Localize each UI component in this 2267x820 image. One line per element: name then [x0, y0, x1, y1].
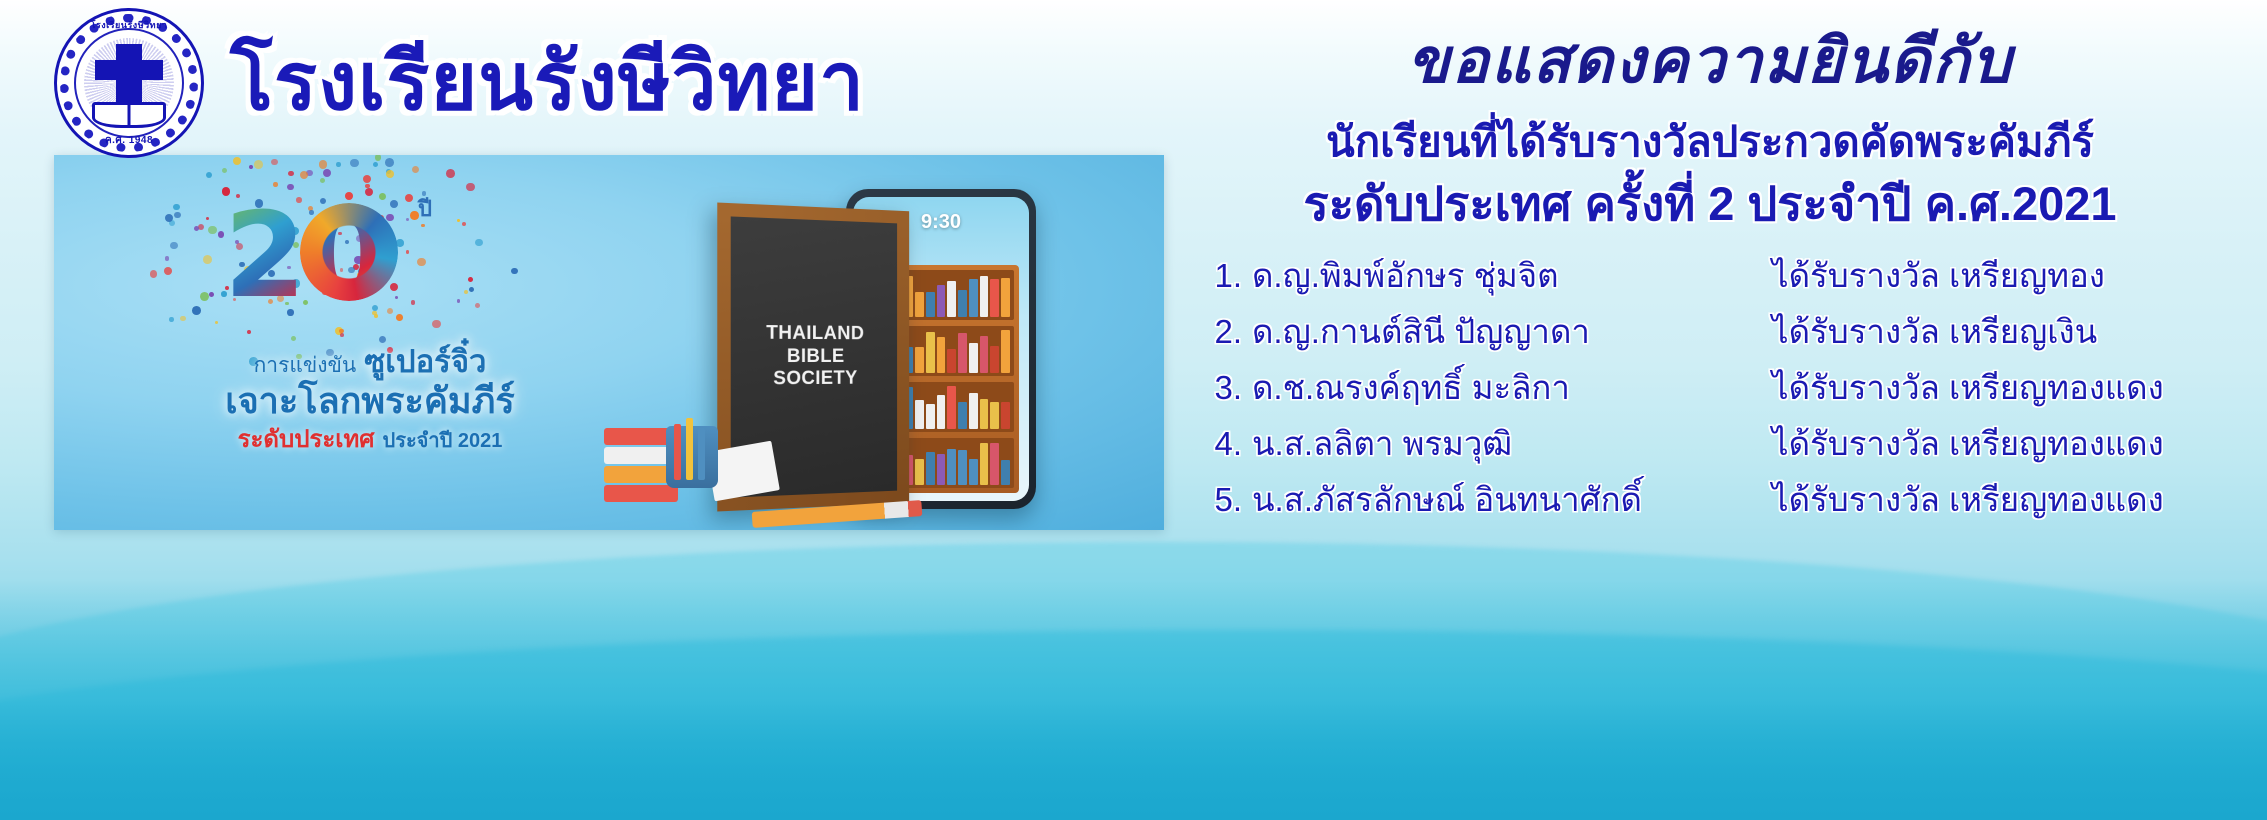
crest-founded-year: ค.ศ. 1948	[54, 133, 204, 148]
award-student-name: น.ส.ลลิตา พรมวุฒิ	[1252, 427, 1772, 460]
award-prize-label: ได้รับรางวัล เหรียญเงิน	[1772, 315, 2097, 348]
school-name-title: โรงเรียนรังษีวิทยา	[230, 43, 865, 123]
poster-title-line1: การแข่งขันซูเปอร์จิ๋ว	[90, 346, 650, 379]
confetti-dot	[475, 239, 482, 246]
confetti-dot	[319, 160, 327, 168]
confetti-dot	[206, 172, 212, 178]
confetti-dot	[385, 158, 394, 167]
shelf-book	[969, 279, 978, 317]
shelf-book	[990, 402, 999, 429]
announcement-subtitle-2: ระดับประเทศ ครั้งที่ 2 ประจำปี ค.ศ.2021	[1190, 175, 2230, 232]
confetti-dot	[396, 314, 403, 321]
poster-title-line2: เจาะโลกพระคัมภีร์	[90, 382, 650, 420]
shelf-book	[958, 333, 967, 373]
blackboard-line: BIBLE	[766, 346, 864, 369]
confetti-dot	[386, 170, 394, 178]
confetti-dot	[373, 162, 379, 168]
poster-left-side: 20 ปี การแข่งขันซูเปอร์จิ๋ว เจาะโลกพระคั…	[54, 155, 674, 530]
shelf-book	[937, 454, 946, 486]
confetti-dot	[247, 330, 251, 334]
confetti-dot	[271, 159, 278, 166]
shelf-book	[1001, 460, 1010, 485]
confetti-dot	[446, 169, 455, 178]
confetti-dot	[323, 169, 331, 177]
shelf-book	[980, 276, 989, 317]
confetti-dot	[203, 255, 212, 264]
award-row: 4.น.ส.ลลิตา พรมวุฒิได้รับรางวัล เหรียญทอ…	[1208, 427, 2230, 460]
shelf-book	[926, 452, 935, 485]
confetti-dot	[215, 321, 218, 324]
school-crest-icon: โรงเรียนรังษีวิทยา ค.ศ. 1948	[54, 8, 204, 158]
shelf-book	[937, 337, 946, 374]
poster-title-block: การแข่งขันซูเปอร์จิ๋ว เจาะโลกพระคัมภีร์ …	[90, 346, 650, 452]
shelf-book	[915, 292, 924, 317]
confetti-dot	[200, 292, 209, 301]
confetti-dot	[170, 242, 177, 249]
award-row: 2.ด.ญ.กานต์สินี ปัญญาดาได้รับรางวัล เหรี…	[1208, 315, 2230, 348]
confetti-dot	[412, 166, 419, 173]
confetti-dot	[173, 204, 180, 211]
award-index: 4.	[1208, 427, 1252, 460]
confetti-dot	[457, 219, 460, 222]
confetti-dot	[249, 165, 253, 169]
confetti-dot	[462, 222, 466, 226]
open-book-icon	[92, 102, 166, 128]
confetti-dot	[233, 157, 241, 165]
confetti-dot	[192, 306, 201, 315]
shelf-book	[915, 400, 924, 429]
award-prize-label: ได้รับรางวัล เหรียญทองแดง	[1772, 483, 2164, 516]
confetti-dot	[198, 224, 204, 230]
confetti-dot	[300, 171, 308, 179]
award-prize-label: ได้รับรางวัล เหรียญทองแดง	[1772, 427, 2164, 460]
poster-year-label: ประจำปี 2021	[383, 430, 503, 452]
confetti-dot	[320, 178, 325, 183]
award-index: 3.	[1208, 371, 1252, 404]
award-index: 5.	[1208, 483, 1252, 516]
shelf-book	[1001, 278, 1010, 317]
shelf-book	[947, 349, 956, 373]
award-index: 1.	[1208, 259, 1252, 292]
award-prize-label: ได้รับรางวัล เหรียญทองแดง	[1772, 371, 2164, 404]
shelf-book	[937, 285, 946, 317]
anniversary-ring-icon	[300, 203, 398, 301]
announcement-banner: โรงเรียนรังษีวิทยา ค.ศ. 1948 โรงเรียนรัง…	[0, 0, 2267, 820]
confetti-dot	[174, 212, 181, 219]
confetti-dot	[194, 226, 199, 231]
shelf-book	[1001, 330, 1010, 373]
anniversary-20-logo: 20 ปี	[214, 185, 424, 315]
confetti-dot	[379, 336, 386, 343]
announcement-panel: ขอแสดงความยินดีกับ นักเรียนที่ได้รับรางว…	[1190, 28, 2230, 539]
confetti-dot	[340, 333, 344, 337]
shelf-book	[947, 449, 956, 485]
shelf-book	[990, 279, 999, 317]
shelf-book	[915, 347, 924, 373]
shelf-book	[980, 443, 989, 485]
award-student-name: ด.ญ.พิมพ์อักษร ชุ่มจิต	[1252, 259, 1772, 292]
confetti-dot	[464, 290, 468, 294]
confetti-dot	[254, 160, 263, 169]
poster-level-label: ระดับประเทศ	[238, 426, 375, 453]
banner-header: โรงเรียนรังษีวิทยา ค.ศ. 1948 โรงเรียนรัง…	[54, 8, 865, 158]
confetti-dot	[180, 316, 185, 321]
confetti-dot	[164, 267, 172, 275]
shelf-book	[969, 393, 978, 429]
confetti-dot	[432, 320, 441, 329]
award-index: 2.	[1208, 315, 1252, 348]
shelf-book	[958, 402, 967, 429]
award-winner-list: 1.ด.ญ.พิมพ์อักษร ชุ่มจิตได้รับรางวัล เหร…	[1190, 259, 2230, 516]
shelf-book	[980, 336, 989, 373]
shelf-book	[915, 459, 924, 485]
shelf-book	[990, 346, 999, 373]
shelf-book	[926, 292, 935, 317]
confetti-dot	[511, 268, 518, 275]
congratulations-heading: ขอแสดงความยินดีกับ	[1190, 28, 2230, 96]
confetti-dot	[169, 317, 174, 322]
shelf-book	[980, 399, 989, 429]
shelf-book	[958, 450, 967, 485]
shelf-book	[947, 386, 956, 429]
confetti-dot	[469, 287, 474, 292]
confetti-dot	[457, 299, 460, 302]
blackboard-line: THAILAND	[766, 323, 864, 346]
shelf-book	[926, 404, 935, 429]
crest-top-text: โรงเรียนรังษีวิทยา	[54, 18, 204, 32]
confetti-dot	[350, 159, 358, 167]
shelf-book	[926, 332, 935, 373]
shelf-book	[958, 290, 967, 317]
award-row: 5.น.ส.ภัสรลักษณ์ อินทนาศักดิ์ได้รับรางวั…	[1208, 483, 2230, 516]
confetti-dot	[222, 168, 227, 173]
announcement-subtitle-1: นักเรียนที่ได้รับรางวัลประกวดคัดพระคัมภี…	[1190, 116, 2230, 167]
award-student-name: น.ส.ภัสรลักษณ์ อินทนาศักดิ์	[1252, 483, 1772, 516]
confetti-dot	[336, 162, 341, 167]
cross-icon	[116, 44, 142, 106]
blackboard-text: THAILAND BIBLE SOCIETY	[766, 323, 864, 391]
confetti-dot	[291, 336, 296, 341]
poster-title-line3: ระดับประเทศประจำปี 2021	[90, 427, 650, 452]
award-row: 3.ด.ช.ณรงค์ฤทธิ์ มะลิกาได้รับรางวัล เหรี…	[1208, 371, 2230, 404]
confetti-dot	[150, 270, 158, 278]
shelf-book	[937, 395, 946, 429]
shelf-book	[969, 459, 978, 485]
confetti-dot	[288, 171, 294, 177]
poster-right-side: 9:30 THAILAND BIBLE SOCIETY	[604, 155, 1164, 530]
award-student-name: ด.ช.ณรงค์ฤทธิ์ มะลิกา	[1252, 371, 1772, 404]
anniversary-unit: ปี	[418, 191, 432, 226]
award-student-name: ด.ญ.กานต์สินี ปัญญาดา	[1252, 315, 1772, 348]
competition-poster: 20 ปี การแข่งขันซูเปอร์จิ๋ว เจาะโลกพระคั…	[54, 155, 1164, 530]
blackboard-line: SOCIETY	[766, 368, 864, 391]
confetti-dot	[206, 217, 209, 220]
confetti-dot	[466, 183, 474, 191]
confetti-dot	[363, 175, 371, 183]
confetti-dot	[165, 256, 169, 260]
award-row: 1.ด.ญ.พิมพ์อักษร ชุ่มจิตได้รับรางวัล เหร…	[1208, 259, 2230, 292]
shelf-book	[947, 281, 956, 317]
confetti-dot	[475, 303, 480, 308]
confetti-dot	[468, 277, 473, 282]
poster-title-main: ซูเปอร์จิ๋ว	[364, 344, 486, 379]
shelf-book	[990, 443, 999, 485]
award-prize-label: ได้รับรางวัล เหรียญทอง	[1772, 259, 2105, 292]
shelf-book	[1001, 402, 1010, 429]
poster-title-prefix: การแข่งขัน	[254, 354, 357, 377]
shelf-book	[969, 343, 978, 373]
